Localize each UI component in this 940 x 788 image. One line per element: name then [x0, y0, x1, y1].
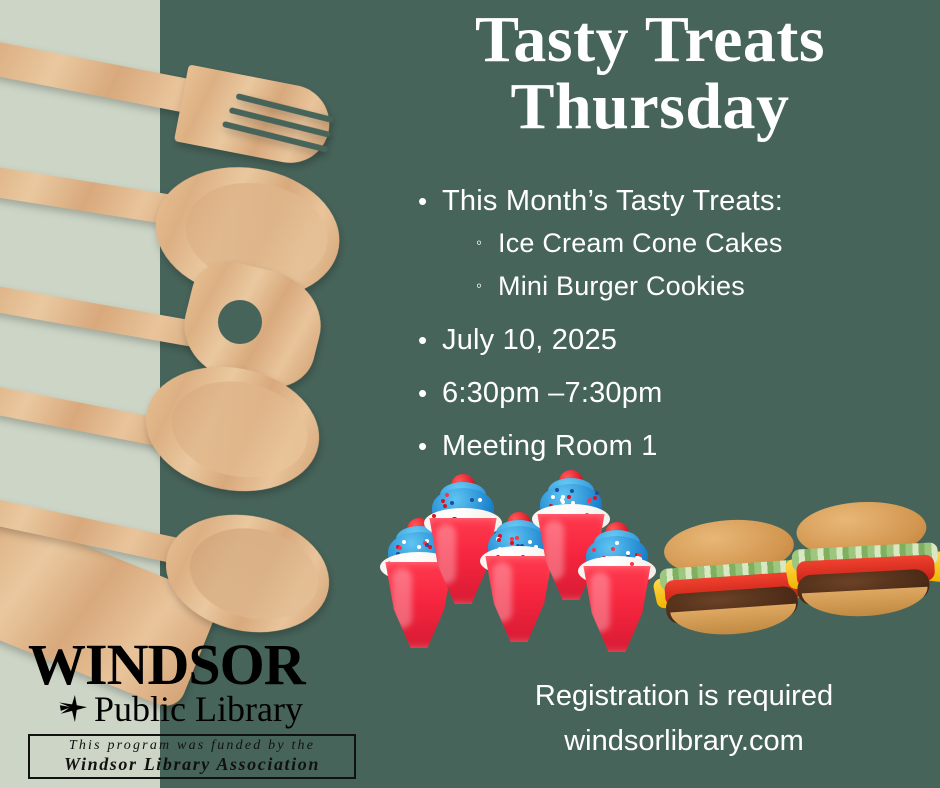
sprinkle — [611, 547, 615, 551]
bullet-circle-icon: ◦ — [476, 223, 498, 263]
sprinkle — [560, 498, 564, 502]
funding-credit-line-1: This program was funded by the — [36, 738, 348, 754]
sprinkle — [626, 551, 630, 555]
sprinkle — [432, 514, 436, 518]
funding-credit-box: This program was funded by the Windsor L… — [28, 734, 356, 779]
sprinkle — [450, 501, 454, 505]
sprinkle — [615, 541, 619, 545]
list-item-label: 6:30pm –7:30pm — [442, 374, 662, 413]
sprinkle — [595, 491, 599, 495]
sprinkle — [592, 548, 596, 552]
slotted-spoon-hole — [218, 300, 262, 344]
sprinkle — [555, 488, 559, 492]
sprinkle — [510, 541, 514, 545]
bullet-circle-icon: ◦ — [476, 266, 498, 306]
poster-title: Tasty Treats Thursday — [370, 6, 930, 141]
bullet-dot-icon: • — [418, 374, 442, 412]
sprinkle — [443, 504, 447, 508]
logo-wordmark: WINDSOR — [28, 636, 378, 694]
list-item: • Meeting Room 1 — [418, 427, 918, 466]
star-icon — [58, 694, 88, 724]
bullet-dot-icon: • — [418, 321, 442, 359]
sprinkle — [551, 495, 555, 499]
sprinkle — [588, 498, 592, 502]
ice-cream-cone-cakes-image — [372, 472, 662, 662]
logo-subtitle: Public Library — [94, 690, 303, 728]
registration-note: Registration is required — [474, 674, 894, 719]
cone-cake — [578, 534, 656, 654]
list-item-label: July 10, 2025 — [442, 321, 617, 360]
list-item-label: Meeting Room 1 — [442, 427, 658, 466]
title-line-2: Thursday — [370, 73, 930, 140]
sprinkle — [630, 562, 634, 566]
list-item-label: This Month’s Tasty Treats: — [442, 182, 783, 221]
sprinkle — [402, 540, 406, 544]
library-logo: WINDSOR Public Library This program was … — [28, 636, 378, 779]
mini-burger-cookies-image — [658, 502, 940, 637]
event-details-list: • This Month’s Tasty Treats: ◦ Ice Cream… — [418, 182, 918, 468]
sprinkle — [417, 545, 421, 549]
funding-credit-line-2: Windsor Library Association — [36, 754, 348, 774]
list-item-label: Ice Cream Cone Cakes — [498, 223, 783, 264]
sprinkle — [497, 538, 501, 542]
website-url[interactable]: windsorlibrary.com — [474, 719, 894, 764]
burger-cookie — [787, 498, 940, 621]
list-item-label: Mini Burger Cookies — [498, 266, 745, 307]
sprinkle — [593, 496, 597, 500]
logo-subtitle-row: Public Library — [58, 690, 378, 728]
list-item: • 6:30pm –7:30pm — [418, 374, 918, 413]
bullet-dot-icon: • — [418, 427, 442, 465]
list-item: ◦ Mini Burger Cookies — [476, 266, 918, 307]
list-item: • July 10, 2025 — [418, 321, 918, 360]
title-line-1: Tasty Treats — [370, 6, 930, 73]
sprinkle — [567, 495, 571, 499]
wooden-utensils-image — [0, 0, 340, 700]
sprinkle — [528, 540, 532, 544]
registration-footer: Registration is required windsorlibrary.… — [474, 674, 894, 764]
sprinkle — [441, 499, 445, 503]
sprinkle — [470, 498, 474, 502]
sprinkle — [570, 489, 574, 493]
sprinkle — [478, 498, 482, 502]
list-item: ◦ Ice Cream Cone Cakes — [476, 223, 918, 264]
sprinkle — [445, 493, 449, 497]
list-item: • This Month’s Tasty Treats: — [418, 182, 918, 221]
sprinkle — [515, 536, 519, 540]
sprinkle — [398, 546, 402, 550]
poster-canvas: Tasty Treats Thursday • This Month’s Tas… — [0, 0, 940, 788]
bullet-dot-icon: • — [418, 182, 442, 220]
